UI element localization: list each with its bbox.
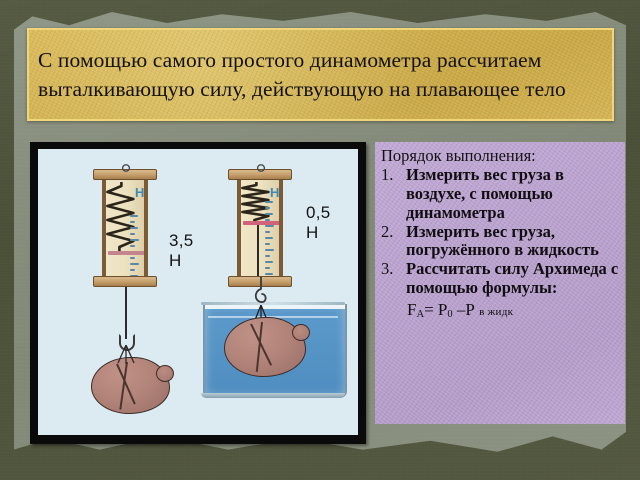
formula-p-subscript: в жидк [479, 306, 513, 318]
dynamometer-air-pointer [108, 251, 148, 255]
dynamometer-air: Н 3,5 Н [93, 169, 157, 287]
dynamometer-liquid-pointer [243, 221, 283, 225]
dynamometer-liquid-inner-string [257, 223, 259, 277]
formula-p0: P [438, 300, 447, 319]
dynamometer-liquid-unit-label: Н [270, 185, 279, 200]
stone-knob [156, 365, 174, 382]
stone-harness-air [114, 345, 138, 365]
stone-knob [292, 324, 310, 341]
diagram-canvas: Н 3,5 Н [38, 149, 358, 435]
stone-in-air [91, 357, 170, 414]
formula-equals: = [424, 300, 434, 319]
tank-rim [201, 302, 345, 305]
dynamometer-air-unit-label: Н [135, 185, 144, 200]
steps-panel: Порядок выполнения: Измерить вес груза в… [375, 142, 625, 424]
dynamometer-air-scale [130, 215, 139, 277]
list-item: Измерить вес груза в воздухе, с помощью … [406, 166, 621, 222]
reading-air: 3,5 Н [169, 231, 194, 271]
reading-liquid: 0,5 Н [306, 203, 331, 243]
formula-p: P [465, 300, 474, 319]
dynamometer-air-suspension-ring [121, 164, 131, 172]
list-item: Измерить вес груза, погружённого в жидко… [406, 223, 621, 260]
tank-base [201, 393, 345, 398]
title-box: С помощью самого простого динамометра ра… [27, 28, 614, 121]
dynamometer-liquid: Н 0,5 Н [228, 169, 292, 287]
dynamometer-air-bottom-cap [93, 276, 157, 287]
slide-background: С помощью самого простого динамометра ра… [0, 0, 640, 480]
diagram-frame: Н 3,5 Н [30, 142, 366, 444]
steps-heading: Порядок выполнения: [381, 147, 621, 165]
formula-lhs-subscript: A [416, 309, 424, 320]
page-title: С помощью самого простого динамометра ра… [29, 46, 612, 103]
archimedes-formula: FA= P0 –P в жидк [407, 300, 621, 320]
formula-p0-subscript: 0 [447, 309, 452, 320]
dynamometer-liquid-scale [265, 201, 274, 277]
stone-in-liquid [224, 317, 306, 377]
steps-list: Измерить вес груза в воздухе, с помощью … [381, 166, 621, 297]
dynamometer-liquid-suspension-ring [256, 164, 266, 172]
list-item: Рассчитать силу Архимеда с помощью форму… [406, 260, 621, 297]
